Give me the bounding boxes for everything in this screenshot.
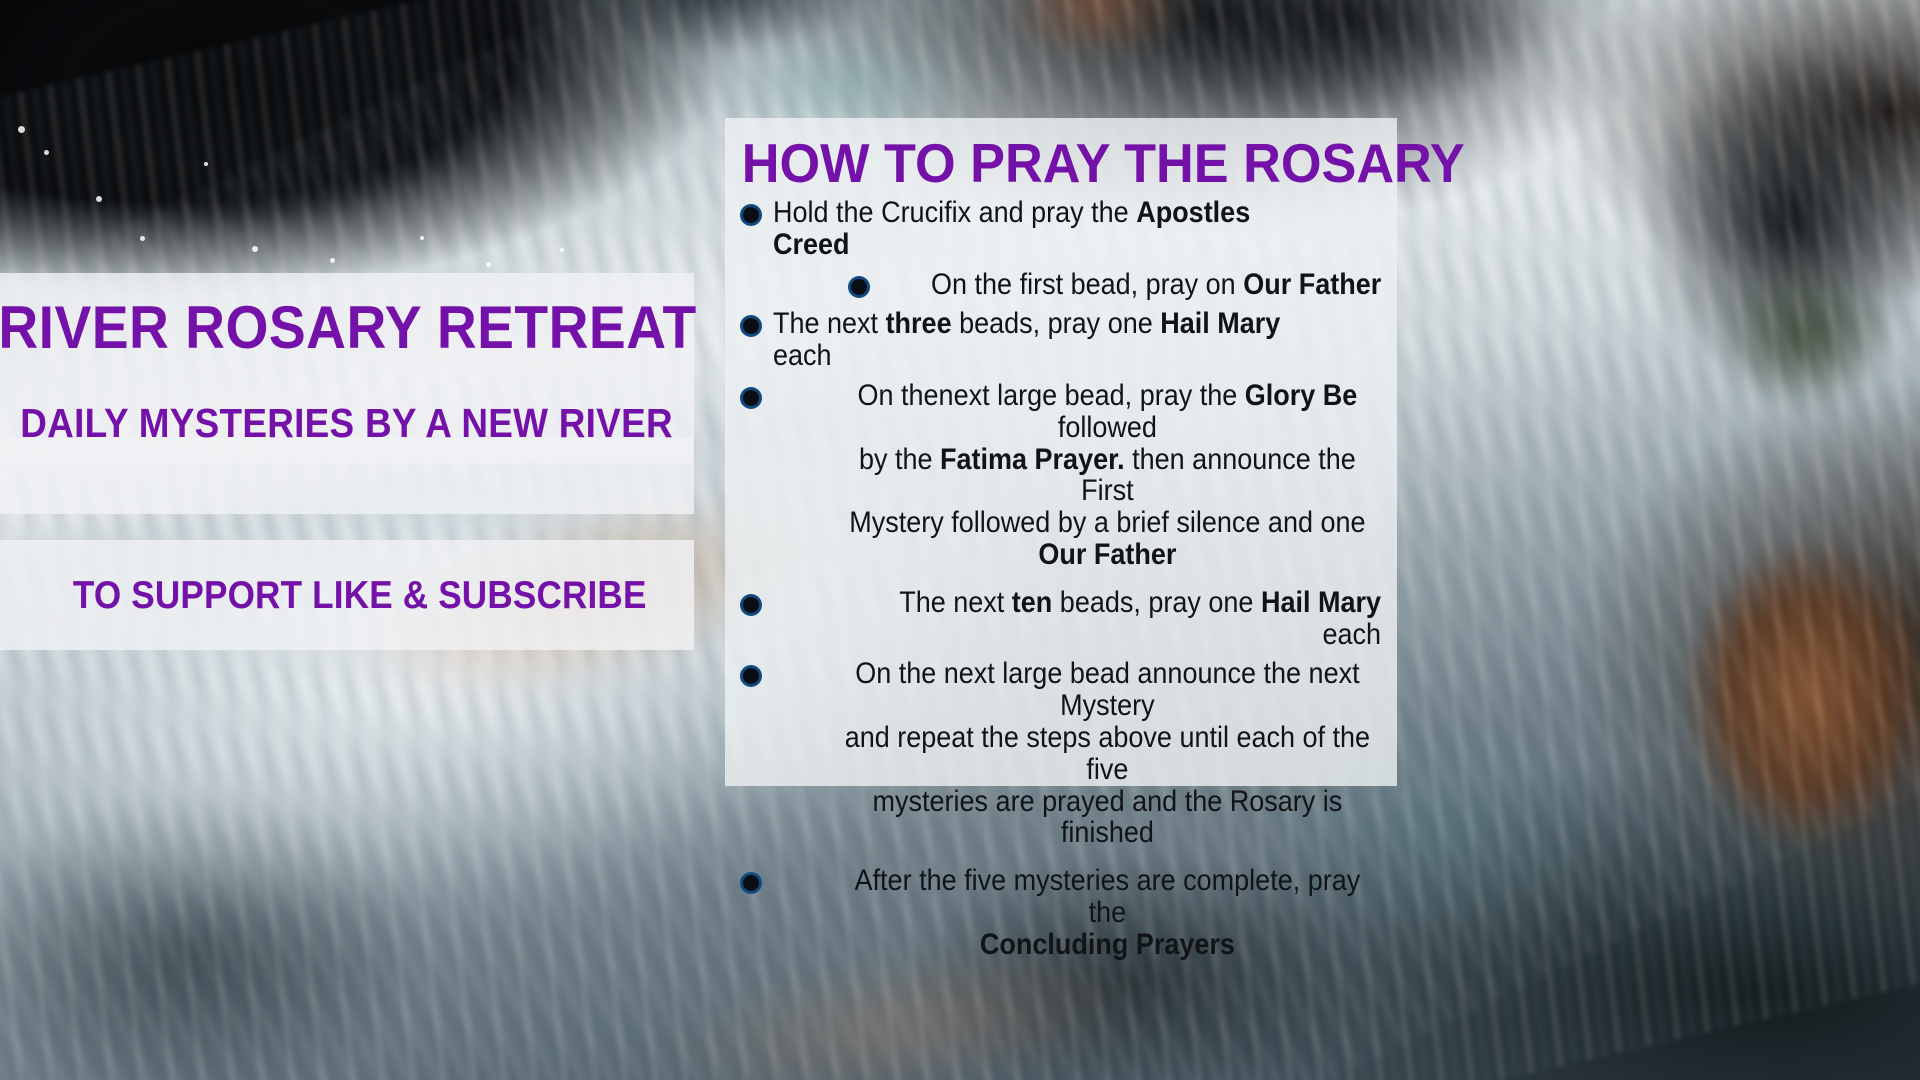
rosary-step-line: The next ten beads, pray one Hail Mary e… xyxy=(834,587,1381,651)
spray-droplet xyxy=(252,246,258,252)
plain-text: mysteries are prayed and the Rosary is f… xyxy=(873,785,1343,850)
rosary-step-line: Concluding Prayers xyxy=(834,929,1381,961)
plain-text: The next xyxy=(773,307,886,340)
bullet-icon xyxy=(743,668,759,684)
rosary-step-line: and repeat the steps above until each of… xyxy=(834,722,1381,786)
spray-droplet xyxy=(18,126,25,133)
plain-text: followed xyxy=(1058,411,1157,444)
emphasis-text: three xyxy=(886,307,952,340)
plain-text: Hold the Crucifix and pray the xyxy=(773,196,1136,229)
plain-text: by the xyxy=(859,443,940,476)
rosary-steps-list: Hold the Crucifix and pray the Apostles … xyxy=(725,197,1397,961)
blank-banner xyxy=(0,438,694,514)
plain-text: After the five mysteries are complete, p… xyxy=(855,864,1361,929)
subscribe-cta-text: TO SUPPORT LIKE & SUBSCRIBE xyxy=(72,576,646,615)
spray-droplet xyxy=(140,236,145,241)
rosary-step-6: On the next large bead announce the next… xyxy=(739,658,1381,849)
bullet-icon xyxy=(743,875,759,891)
plain-text: each xyxy=(773,339,832,372)
rosary-step-5: The next ten beads, pray one Hail Mary e… xyxy=(739,587,1381,651)
rosary-step-text: Hold the Crucifix and pray the Apostles … xyxy=(773,197,1320,261)
plain-text: beads, pray one xyxy=(1052,586,1261,619)
plain-text: Mystery followed by a brief silence and … xyxy=(849,506,1365,539)
headline-text: RIVER ROSARY RETREAT xyxy=(0,298,696,358)
spray-droplet xyxy=(486,262,491,267)
rosary-step-text: On the first bead, pray on Our Father xyxy=(931,269,1381,301)
plain-text: each xyxy=(1322,618,1381,651)
rosary-step-text: After the five mysteries are complete, p… xyxy=(834,865,1381,960)
spray-droplet xyxy=(204,162,208,166)
rosary-step-2: On the first bead, pray on Our Father xyxy=(739,269,1381,301)
rosary-step-line: by the Fatima Prayer. then announce the … xyxy=(834,444,1381,508)
rosary-step-line: On thenext large bead, pray the Glory Be… xyxy=(834,380,1381,444)
rosary-instructions-panel: HOW TO PRAY THE ROSARY Hold the Crucifix… xyxy=(725,118,1397,786)
emphasis-text: Hail Mary xyxy=(1261,586,1381,619)
subscribe-banner[interactable]: TO SUPPORT LIKE & SUBSCRIBE xyxy=(0,540,694,650)
rosary-step-line: On the next large bead announce the next… xyxy=(834,658,1381,722)
emphasis-text: Our Father xyxy=(1038,538,1176,571)
rosary-step-line: The next three beads, pray one Hail Mary… xyxy=(773,308,1320,372)
plain-text: beads, pray one xyxy=(952,307,1161,340)
plain-text: and repeat the steps above until each of… xyxy=(845,721,1370,786)
rosary-step-line: Mystery followed by a brief silence and … xyxy=(834,507,1381,539)
plain-text: On thenext large bead, pray the xyxy=(857,379,1244,412)
plain-text: The next xyxy=(899,586,1012,619)
rosary-step-line: mysteries are prayed and the Rosary is f… xyxy=(834,786,1381,850)
poster-canvas: RIVER ROSARY RETREAT DAILY MYSTERIES BY … xyxy=(0,0,1920,1080)
bullet-icon xyxy=(743,318,759,334)
emphasis-text: Hail Mary xyxy=(1160,307,1280,340)
emphasis-text: Fatima Prayer. xyxy=(940,443,1125,476)
plain-text: On the first bead, pray on xyxy=(931,268,1243,301)
emphasis-text: ten xyxy=(1012,586,1053,619)
spray-droplet xyxy=(420,236,424,240)
rosary-step-line: After the five mysteries are complete, p… xyxy=(834,865,1381,929)
rosary-step-line: Our Father xyxy=(834,539,1381,571)
emphasis-text: Glory Be xyxy=(1245,379,1358,412)
rosary-step-text: On thenext large bead, pray the Glory Be… xyxy=(834,380,1381,571)
spray-droplet xyxy=(96,196,102,202)
bullet-icon xyxy=(743,207,759,223)
rosary-panel-title: HOW TO PRAY THE ROSARY xyxy=(742,118,1380,197)
spray-droplet xyxy=(560,248,564,252)
bullet-icon xyxy=(743,597,759,613)
headline-banner: RIVER ROSARY RETREAT xyxy=(0,273,694,383)
rosary-step-4: On thenext large bead, pray the Glory Be… xyxy=(739,380,1381,571)
bullet-icon xyxy=(851,279,867,295)
emphasis-text: Concluding Prayers xyxy=(980,928,1235,961)
rosary-step-line: On the first bead, pray on Our Father xyxy=(931,269,1381,301)
rosary-step-1: Hold the Crucifix and pray the Apostles … xyxy=(739,197,1381,261)
rosary-step-text: The next ten beads, pray one Hail Mary e… xyxy=(834,587,1381,651)
plain-text: On the next large bead announce the next… xyxy=(855,657,1359,722)
rosary-step-text: On the next large bead announce the next… xyxy=(834,658,1381,849)
spray-droplet xyxy=(44,150,49,155)
rosary-step-line: Hold the Crucifix and pray the Apostles … xyxy=(773,197,1320,261)
rosary-step-text: The next three beads, pray one Hail Mary… xyxy=(773,308,1320,372)
bullet-icon xyxy=(743,390,759,406)
rosary-step-7: After the five mysteries are complete, p… xyxy=(739,865,1381,960)
spray-droplet xyxy=(330,258,335,263)
emphasis-text: Our Father xyxy=(1243,268,1381,301)
rosary-step-3: The next three beads, pray one Hail Mary… xyxy=(739,308,1381,372)
